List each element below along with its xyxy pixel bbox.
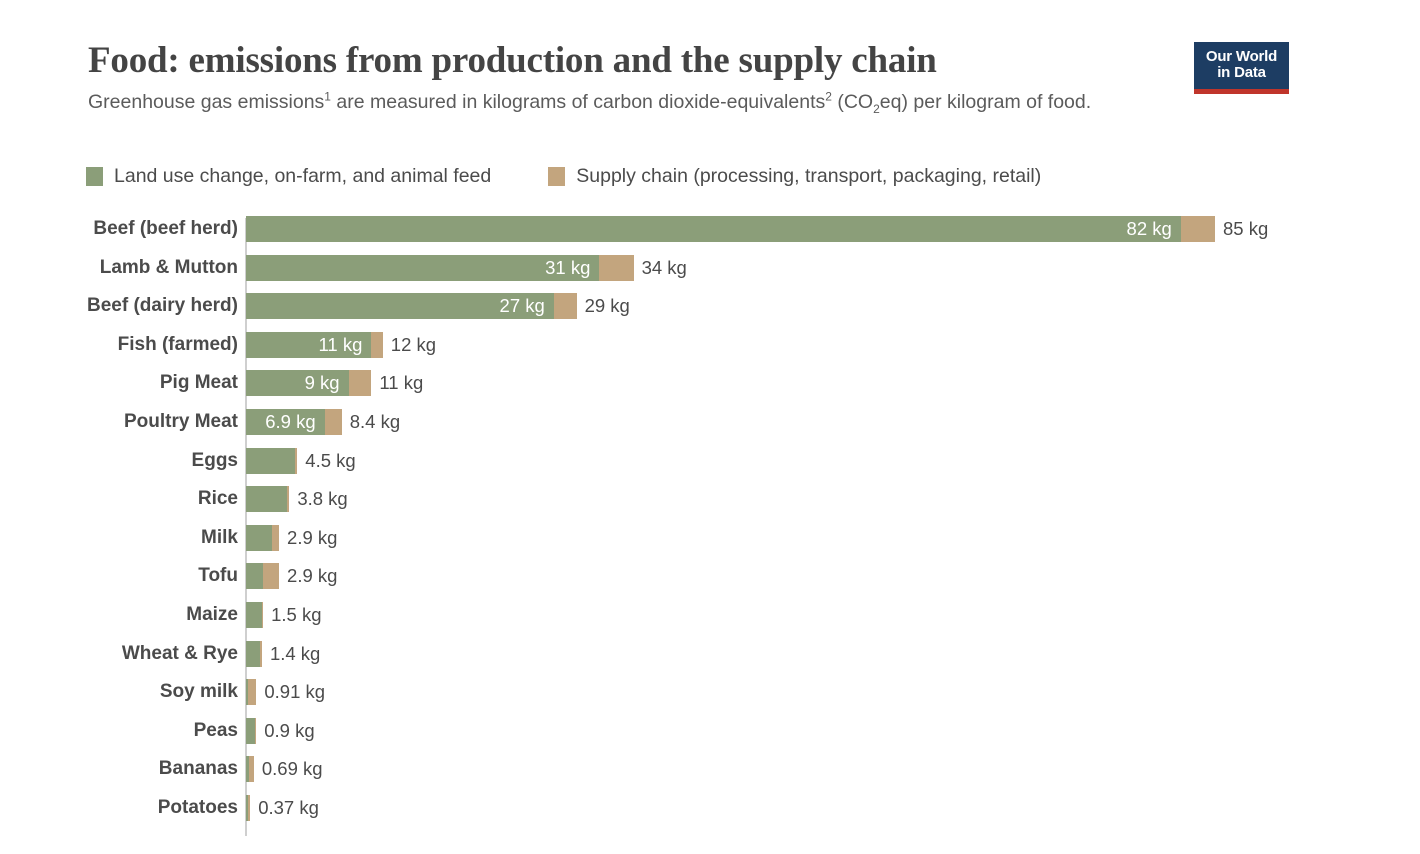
subtitle-part-d: eq) per kilogram of food.: [880, 91, 1091, 113]
chart-header: Food: emissions from production and the …: [88, 38, 1148, 116]
bar-inline-value: 82 kg: [1127, 216, 1172, 242]
chart-legend: Land use change, on-farm, and animal fee…: [86, 165, 1098, 188]
bar-total-value: 34 kg: [642, 255, 687, 281]
bar-segment-supply-chain[interactable]: [554, 293, 577, 319]
bar-segment-supply-chain[interactable]: [263, 563, 279, 589]
logo-line-2: in Data: [1217, 65, 1266, 81]
bar-row[interactable]: Poultry Meat6.9 kg8.4 kg: [0, 405, 1420, 444]
bar-segment-supply-chain[interactable]: [371, 332, 382, 358]
bar-total-value: 3.8 kg: [297, 486, 347, 512]
bar-row[interactable]: Pig Meat9 kg11 kg: [0, 366, 1420, 405]
bar-row-label: Poultry Meat: [0, 405, 238, 438]
bar-segment-supply-chain[interactable]: [248, 795, 251, 821]
bar-segment-supply-chain[interactable]: [599, 255, 633, 281]
bar-segment-land-use[interactable]: [246, 448, 295, 474]
bar-row[interactable]: Milk2.9 kg: [0, 521, 1420, 560]
bar-total-value: 4.5 kg: [305, 448, 355, 474]
bar-segment-land-use[interactable]: 31 kg: [246, 255, 599, 281]
stacked-bar[interactable]: [246, 563, 279, 589]
bar-segment-land-use[interactable]: 11 kg: [246, 332, 371, 358]
bar-segment-land-use[interactable]: 27 kg: [246, 293, 554, 319]
bar-segment-supply-chain[interactable]: [255, 718, 256, 744]
bar-rows: Beef (beef herd)82 kg85 kgLamb & Mutton3…: [0, 212, 1420, 830]
stacked-bar[interactable]: [246, 641, 262, 667]
bar-row[interactable]: Tofu2.9 kg: [0, 559, 1420, 598]
bar-total-value: 11 kg: [379, 370, 423, 396]
bar-row-label: Beef (beef herd): [0, 212, 238, 245]
bar-total-value: 29 kg: [585, 293, 630, 319]
stacked-bar[interactable]: [246, 525, 279, 551]
footnote-marker-1: 1: [324, 90, 331, 104]
stacked-bar[interactable]: 27 kg: [246, 293, 577, 319]
bar-segment-supply-chain[interactable]: [248, 679, 256, 705]
subtitle-part-a: Greenhouse gas emissions: [88, 91, 324, 113]
bar-total-value: 0.37 kg: [258, 795, 319, 821]
bar-row[interactable]: Beef (dairy herd)27 kg29 kg: [0, 289, 1420, 328]
bar-row-label: Pig Meat: [0, 366, 238, 399]
chart-subtitle: Greenhouse gas emissions1 are measured i…: [88, 90, 1118, 116]
bar-row[interactable]: Lamb & Mutton31 kg34 kg: [0, 251, 1420, 290]
bar-inline-value: 9 kg: [305, 370, 340, 396]
legend-swatch-supply_chain: [548, 167, 565, 186]
bar-row[interactable]: Soy milk0.91 kg: [0, 675, 1420, 714]
bar-segment-land-use[interactable]: [246, 718, 255, 744]
bar-total-value: 0.69 kg: [262, 756, 323, 782]
bar-segment-supply-chain[interactable]: [260, 641, 262, 667]
bar-row-label: Bananas: [0, 752, 238, 785]
bar-row[interactable]: Potatoes0.37 kg: [0, 791, 1420, 830]
bar-row-label: Maize: [0, 598, 238, 631]
bar-segment-supply-chain[interactable]: [249, 756, 254, 782]
bar-total-value: 2.9 kg: [287, 525, 337, 551]
legend-swatch-land_use: [86, 167, 103, 186]
bar-segment-land-use[interactable]: [246, 602, 262, 628]
bar-row-label: Lamb & Mutton: [0, 251, 238, 284]
bar-row-label: Milk: [0, 521, 238, 554]
bar-total-value: 0.9 kg: [264, 718, 314, 744]
stacked-bar[interactable]: 9 kg: [246, 370, 371, 396]
stacked-bar[interactable]: 11 kg: [246, 332, 383, 358]
bar-row[interactable]: Bananas0.69 kg: [0, 752, 1420, 791]
bar-row[interactable]: Wheat & Rye1.4 kg: [0, 637, 1420, 676]
logo-line-1: Our World: [1206, 49, 1277, 65]
stacked-bar[interactable]: 82 kg: [246, 216, 1215, 242]
bar-row-label: Beef (dairy herd): [0, 289, 238, 322]
bar-total-value: 8.4 kg: [350, 409, 400, 435]
legend-item-land_use[interactable]: Land use change, on-farm, and animal fee…: [86, 165, 491, 188]
bar-segment-land-use[interactable]: [246, 641, 260, 667]
legend-label-supply_chain: Supply chain (processing, transport, pac…: [576, 165, 1041, 188]
bar-total-value: 1.4 kg: [270, 641, 320, 667]
bar-row-label: Fish (farmed): [0, 328, 238, 361]
bar-total-value: 0.91 kg: [264, 679, 325, 705]
bar-segment-supply-chain[interactable]: [325, 409, 342, 435]
bar-total-value: 85 kg: [1223, 216, 1268, 242]
bar-segment-supply-chain[interactable]: [287, 486, 289, 512]
chart-plot-area: Beef (beef herd)82 kg85 kgLamb & Mutton3…: [0, 212, 1420, 837]
bar-total-value: 12 kg: [391, 332, 436, 358]
our-world-in-data-logo[interactable]: Our World in Data: [1194, 42, 1289, 94]
stacked-bar[interactable]: 6.9 kg: [246, 409, 342, 435]
stacked-bar[interactable]: [246, 795, 250, 821]
stacked-bar[interactable]: [246, 718, 256, 744]
bar-row-label: Soy milk: [0, 675, 238, 708]
bar-row-label: Eggs: [0, 444, 238, 477]
bar-segment-land-use[interactable]: [246, 486, 287, 512]
legend-item-supply_chain[interactable]: Supply chain (processing, transport, pac…: [548, 165, 1041, 188]
bar-segment-land-use[interactable]: [246, 563, 263, 589]
bar-row[interactable]: Fish (farmed)11 kg12 kg: [0, 328, 1420, 367]
bar-inline-value: 6.9 kg: [265, 409, 315, 435]
bar-row[interactable]: Eggs4.5 kg: [0, 444, 1420, 483]
bar-inline-value: 11 kg: [319, 332, 363, 358]
stacked-bar[interactable]: [246, 486, 289, 512]
stacked-bar[interactable]: [246, 602, 263, 628]
bar-row-label: Peas: [0, 714, 238, 747]
bar-row-label: Potatoes: [0, 791, 238, 824]
bar-row[interactable]: Beef (beef herd)82 kg85 kg: [0, 212, 1420, 251]
legend-label-land_use: Land use change, on-farm, and animal fee…: [114, 165, 491, 188]
subtitle-part-b: are measured in kilograms of carbon diox…: [331, 91, 825, 113]
stacked-bar[interactable]: [246, 679, 256, 705]
bar-row[interactable]: Peas0.9 kg: [0, 714, 1420, 753]
bar-segment-land-use[interactable]: 9 kg: [246, 370, 349, 396]
page-title: Food: emissions from production and the …: [88, 38, 1148, 84]
stacked-bar[interactable]: [246, 756, 254, 782]
bar-row-label: Tofu: [0, 559, 238, 592]
bar-segment-supply-chain[interactable]: [349, 370, 372, 396]
bar-row-label: Rice: [0, 482, 238, 515]
footnote-marker-2: 2: [825, 90, 832, 104]
bar-total-value: 2.9 kg: [287, 563, 337, 589]
bar-segment-supply-chain[interactable]: [262, 602, 263, 628]
bar-segment-land-use[interactable]: [246, 525, 272, 551]
bar-segment-supply-chain[interactable]: [272, 525, 279, 551]
bar-segment-supply-chain[interactable]: [295, 448, 297, 474]
chart-page: Food: emissions from production and the …: [0, 0, 1420, 854]
bar-row[interactable]: Rice3.8 kg: [0, 482, 1420, 521]
subtitle-part-c: (CO: [832, 91, 873, 113]
bar-row-label: Wheat & Rye: [0, 637, 238, 670]
bar-inline-value: 27 kg: [500, 293, 545, 319]
bar-total-value: 1.5 kg: [271, 602, 321, 628]
bar-row[interactable]: Maize1.5 kg: [0, 598, 1420, 637]
stacked-bar[interactable]: [246, 448, 297, 474]
stacked-bar[interactable]: 31 kg: [246, 255, 634, 281]
bar-segment-supply-chain[interactable]: [1181, 216, 1215, 242]
co2-subscript: 2: [873, 102, 880, 116]
bar-inline-value: 31 kg: [545, 255, 590, 281]
bar-segment-land-use[interactable]: 6.9 kg: [246, 409, 325, 435]
bar-segment-land-use[interactable]: 82 kg: [246, 216, 1181, 242]
